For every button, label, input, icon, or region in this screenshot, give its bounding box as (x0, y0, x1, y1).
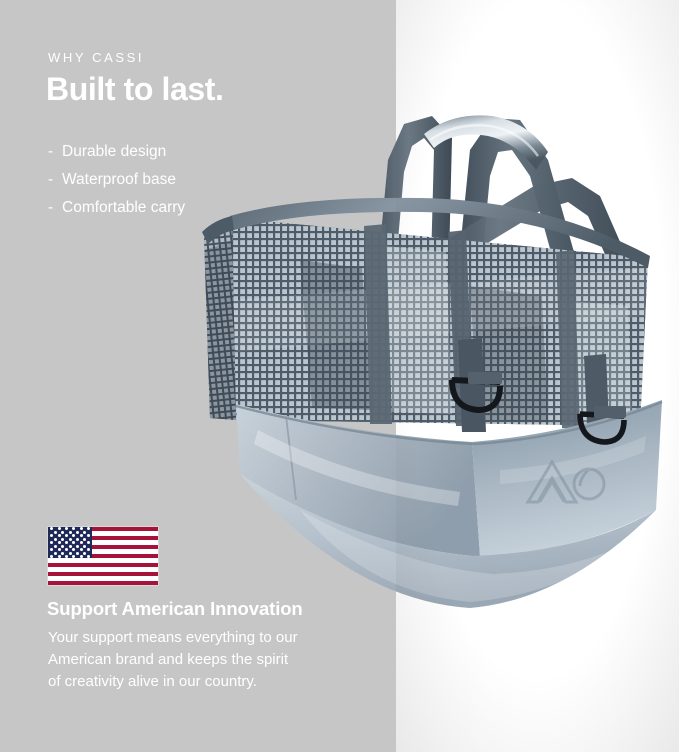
background-right-panel (396, 0, 679, 752)
support-body-line: American brand and keeps the spirit (48, 649, 378, 671)
bullet-label: Durable design (62, 138, 166, 166)
flag-star (61, 545, 64, 548)
flag-star (50, 534, 53, 537)
flag-star (65, 555, 68, 558)
flag-star (72, 527, 75, 530)
flag-star (54, 552, 57, 555)
flag-star (50, 548, 53, 551)
flag-star (80, 527, 83, 530)
bullet-dash-icon: - (48, 166, 62, 194)
flag-star (72, 534, 75, 537)
list-item: - Waterproof base (48, 166, 378, 194)
bullet-label: Waterproof base (62, 166, 176, 194)
flag-star (61, 552, 64, 555)
bullet-label: Comfortable carry (62, 194, 185, 222)
flag-star (80, 548, 83, 551)
flag-star (58, 555, 61, 558)
flag-star (83, 538, 86, 541)
flag-star (76, 531, 79, 534)
flag-star (69, 538, 72, 541)
flag-star (54, 538, 57, 541)
american-flag-icon (48, 527, 158, 585)
flag-star (58, 527, 61, 530)
flag-star (50, 527, 53, 530)
feature-bullet-list: - Durable design - Waterproof base - Com… (48, 138, 378, 222)
bullet-dash-icon: - (48, 194, 62, 222)
support-heading: Support American Innovation (47, 598, 303, 620)
flag-star (65, 534, 68, 537)
eyebrow-label: WHY CASSI (48, 50, 144, 65)
page-title: Built to last. (46, 72, 224, 107)
flag-star (76, 538, 79, 541)
marketing-image: WHY CASSI Built to last. - Durable desig… (0, 0, 679, 752)
flag-star (65, 541, 68, 544)
bullet-dash-icon: - (48, 138, 62, 166)
support-body-text: Your support means everything to our Ame… (48, 627, 378, 693)
flag-star (65, 527, 68, 530)
support-body-line: Your support means everything to our (48, 627, 378, 649)
flag-star (83, 531, 86, 534)
flag-star (58, 548, 61, 551)
flag-star (87, 541, 90, 544)
flag-star (69, 552, 72, 555)
flag-star (58, 534, 61, 537)
flag-star (87, 548, 90, 551)
flag-star (76, 545, 79, 548)
flag-star (83, 545, 86, 548)
flag-star (50, 541, 53, 544)
flag-stripe (48, 572, 158, 576)
flag-star (72, 555, 75, 558)
flag-star (50, 555, 53, 558)
list-item: - Comfortable carry (48, 194, 378, 222)
flag-star (61, 538, 64, 541)
flag-star (61, 531, 64, 534)
flag-star (65, 548, 68, 551)
flag-star (87, 534, 90, 537)
flag-stripe (48, 563, 158, 567)
flag-star (87, 527, 90, 530)
flag-star (80, 534, 83, 537)
flag-star (72, 541, 75, 544)
flag-stripe (48, 581, 158, 585)
flag-star (58, 541, 61, 544)
flag-star (80, 555, 83, 558)
flag-star (76, 552, 79, 555)
flag-star (69, 545, 72, 548)
flag-star (69, 531, 72, 534)
support-body-line: of creativity alive in our country. (48, 671, 378, 693)
flag-star (54, 531, 57, 534)
list-item: - Durable design (48, 138, 378, 166)
flag-star (54, 545, 57, 548)
flag-star (83, 552, 86, 555)
flag-star (80, 541, 83, 544)
flag-star (72, 548, 75, 551)
flag-star (87, 555, 90, 558)
